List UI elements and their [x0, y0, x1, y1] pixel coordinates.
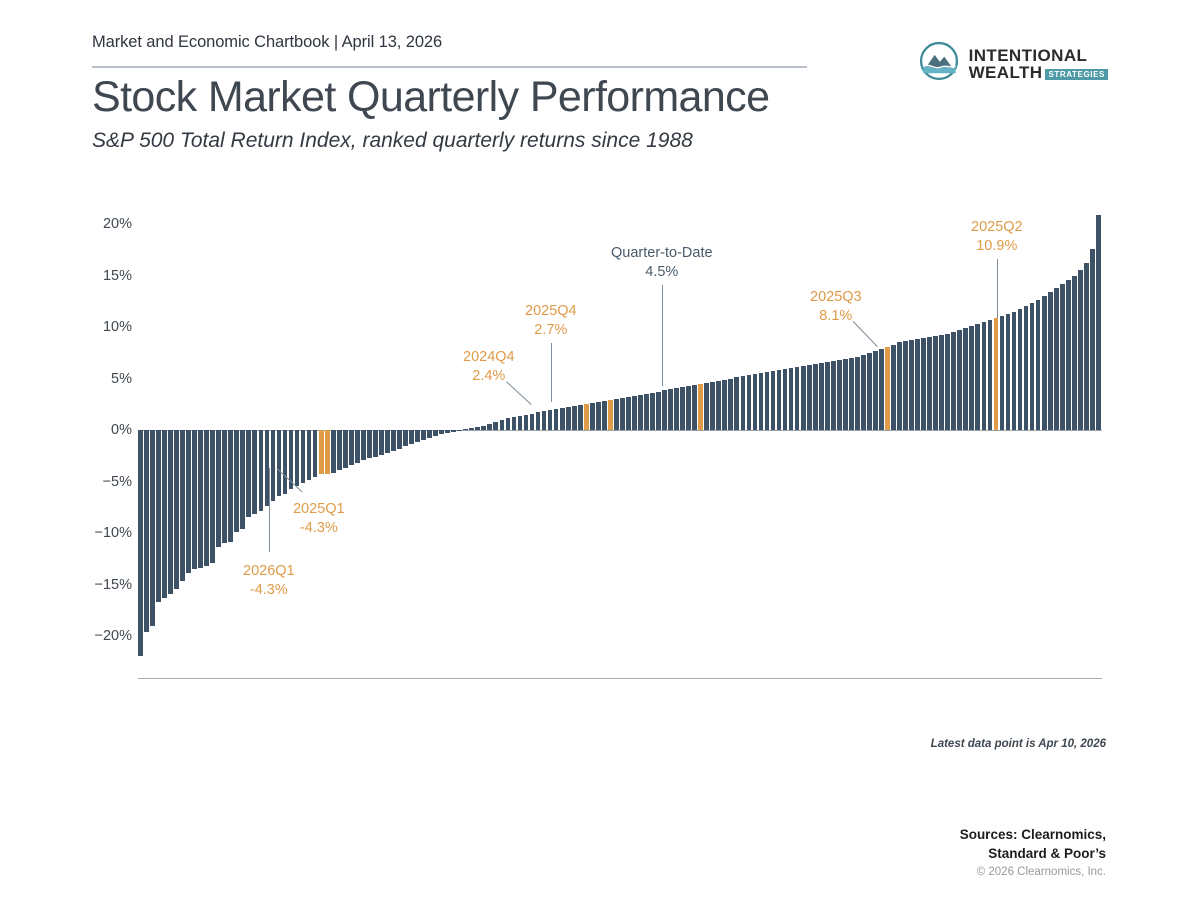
bar — [271, 430, 276, 501]
bar — [831, 361, 836, 430]
bar — [988, 320, 993, 430]
bar — [174, 430, 179, 589]
bar — [1036, 300, 1041, 430]
bar-highlighted — [584, 404, 589, 430]
y-axis-tick: −5% — [103, 474, 132, 490]
bar — [656, 392, 661, 430]
bar — [228, 430, 233, 542]
y-axis-tick: 15% — [103, 268, 132, 284]
bar — [1066, 280, 1071, 430]
bar — [355, 430, 360, 463]
annotation-2026q1-leader-line — [269, 468, 270, 552]
bar — [246, 430, 251, 517]
bar — [891, 345, 896, 430]
bar — [397, 430, 402, 449]
bar — [234, 430, 239, 532]
bar — [180, 430, 185, 581]
bar — [855, 357, 860, 430]
bar — [156, 430, 161, 602]
bar — [1054, 288, 1059, 430]
annotation-2024q4-label: 2024Q4 — [463, 348, 515, 367]
bar — [487, 424, 492, 430]
bar — [463, 429, 468, 430]
bar-highlighted — [698, 384, 703, 430]
bar — [704, 383, 709, 430]
bar — [861, 355, 866, 430]
bar — [1072, 276, 1077, 431]
sources-line-1: Sources: Clearnomics, — [960, 826, 1106, 845]
bar — [1042, 296, 1047, 430]
annotation-quarter-to-date-value: 4.5% — [611, 263, 713, 282]
bar — [819, 363, 824, 430]
bar — [578, 405, 583, 430]
bar — [307, 430, 312, 480]
bar — [975, 324, 980, 430]
bar — [963, 328, 968, 430]
bar — [391, 430, 396, 451]
bar — [469, 428, 474, 430]
bar — [572, 406, 577, 430]
bar — [554, 409, 559, 430]
bar — [825, 362, 830, 430]
annotation-2025q4-value: 2.7% — [525, 321, 577, 340]
annotation-2026q1-value: -4.3% — [243, 581, 295, 600]
bar — [560, 408, 565, 430]
bar — [897, 342, 902, 430]
annotation-quarter-to-date-leader-line — [662, 285, 663, 386]
bar-highlighted — [994, 318, 999, 430]
bar-highlighted — [608, 400, 613, 430]
bar — [349, 430, 354, 465]
bar — [747, 375, 752, 430]
bar — [590, 403, 595, 430]
bar — [1024, 306, 1029, 430]
bar — [481, 426, 486, 430]
bar — [843, 359, 848, 430]
bar — [759, 373, 764, 430]
bar — [168, 430, 173, 594]
bar — [638, 395, 643, 430]
bar — [982, 322, 987, 430]
bar — [680, 387, 685, 430]
bar — [421, 430, 426, 440]
copyright-notice: © 2026 Clearnomics, Inc. — [960, 866, 1106, 878]
bar-highlighted — [885, 347, 890, 430]
bar — [138, 430, 143, 656]
bar — [921, 338, 926, 430]
bar-highlighted — [319, 430, 324, 474]
bar — [1006, 314, 1011, 430]
bar — [903, 341, 908, 430]
bar-highlighted — [325, 430, 330, 474]
bar — [475, 427, 480, 430]
annotation-quarter-to-date-label: Quarter-to-Date — [611, 244, 713, 263]
bar — [716, 381, 721, 430]
annotation-2025q4-label: 2025Q4 — [525, 302, 577, 321]
y-axis-tick: −20% — [95, 628, 133, 644]
bar — [548, 410, 553, 430]
bar — [753, 374, 758, 430]
bar — [493, 422, 498, 430]
bar — [439, 430, 444, 434]
bar — [162, 430, 167, 598]
bar — [373, 430, 378, 457]
y-axis-tick: 0% — [111, 422, 132, 438]
y-axis-tick: −15% — [95, 577, 133, 593]
bar — [1012, 312, 1017, 430]
bar — [710, 382, 715, 430]
bar — [313, 430, 318, 477]
bar — [915, 339, 920, 430]
bar — [1084, 263, 1089, 430]
bar — [222, 430, 227, 543]
bar — [722, 380, 727, 430]
bar — [536, 412, 541, 430]
bar — [542, 411, 547, 430]
bar — [301, 430, 306, 483]
annotation-2025q2-value: 10.9% — [971, 237, 1023, 256]
bar — [433, 430, 438, 436]
y-axis-tick: 20% — [103, 216, 132, 232]
bar — [331, 430, 336, 473]
bar — [361, 430, 366, 460]
bar — [259, 430, 264, 511]
bar — [873, 351, 878, 430]
bar — [500, 420, 505, 430]
bar — [650, 393, 655, 430]
bar — [644, 394, 649, 430]
bar — [614, 399, 619, 430]
bar — [837, 360, 842, 430]
bar — [1078, 270, 1083, 430]
y-axis-tick: 10% — [103, 319, 132, 335]
annotation-2025q2-leader-line — [997, 259, 998, 318]
bar — [385, 430, 390, 453]
sources-block: Sources: Clearnomics, Standard & Poor’s … — [960, 826, 1106, 878]
bar — [813, 364, 818, 430]
bar — [765, 372, 770, 430]
bar — [1018, 309, 1023, 430]
bar — [295, 430, 300, 486]
footer-divider — [138, 678, 1102, 679]
bar — [445, 430, 450, 433]
bar — [216, 430, 221, 547]
bar — [692, 385, 697, 430]
bar — [415, 430, 420, 442]
bar — [204, 430, 209, 566]
y-axis-tick: −10% — [95, 525, 133, 541]
bar — [457, 430, 462, 431]
annotation-2026q1: 2026Q1-4.3% — [243, 562, 295, 600]
bar — [909, 340, 914, 430]
annotation-2025q2-label: 2025Q2 — [971, 218, 1023, 237]
annotation-quarter-to-date: Quarter-to-Date4.5% — [611, 244, 713, 282]
bar — [741, 376, 746, 430]
bar — [620, 398, 625, 430]
bar — [795, 367, 800, 430]
y-axis: 20%15%10%5%0%−5%−10%−15%−20% — [90, 206, 132, 640]
annotation-2026q1-label: 2026Q1 — [243, 562, 295, 581]
bar — [506, 418, 511, 430]
bar — [849, 358, 854, 430]
bar — [198, 430, 203, 568]
annotation-2025q1-label: 2025Q1 — [293, 500, 345, 519]
bar — [951, 332, 956, 430]
bar — [252, 430, 257, 514]
bar — [1000, 316, 1005, 430]
bar — [933, 336, 938, 430]
bar — [626, 397, 631, 430]
bar — [1030, 303, 1035, 430]
annotation-2025q4-leader-line — [551, 343, 552, 402]
bar — [945, 334, 950, 430]
bar — [186, 430, 191, 573]
bar — [939, 335, 944, 430]
annotation-2025q1: 2025Q1-4.3% — [293, 500, 345, 538]
bar — [632, 396, 637, 430]
bar — [451, 430, 456, 432]
bar — [518, 416, 523, 430]
bar — [427, 430, 432, 438]
bar — [524, 415, 529, 430]
bar — [367, 430, 372, 458]
bar — [283, 430, 288, 494]
bar — [530, 414, 535, 430]
annotation-2025q4: 2025Q42.7% — [525, 302, 577, 340]
bar — [240, 430, 245, 529]
bar — [409, 430, 414, 444]
bar — [927, 337, 932, 430]
bar — [777, 370, 782, 430]
bar — [210, 430, 215, 563]
bar — [150, 430, 155, 626]
bar — [879, 349, 884, 430]
bar — [144, 430, 149, 632]
bar — [789, 368, 794, 430]
sources-line-2: Standard & Poor’s — [960, 845, 1106, 864]
bar — [957, 330, 962, 430]
bar — [674, 388, 679, 430]
chart-container: 20%15%10%5%0%−5%−10%−15%−20% 2026Q1-4.3%… — [0, 0, 1200, 900]
bar — [602, 401, 607, 430]
bar — [403, 430, 408, 446]
bar — [969, 326, 974, 430]
latest-data-point-note: Latest data point is Apr 10, 2026 — [931, 738, 1106, 750]
annotation-2025q1-value: -4.3% — [293, 519, 345, 538]
bar — [512, 417, 517, 430]
bar — [379, 430, 384, 455]
bar — [277, 430, 282, 496]
bar — [1048, 292, 1053, 430]
bar — [662, 390, 667, 430]
bar — [867, 353, 872, 430]
bar — [566, 407, 571, 430]
bar — [1060, 284, 1065, 430]
bar — [686, 386, 691, 430]
bar — [783, 369, 788, 430]
bar — [1090, 249, 1095, 430]
bar — [801, 366, 806, 430]
bar — [1096, 215, 1101, 430]
y-axis-tick: 5% — [111, 371, 132, 387]
bar — [734, 377, 739, 430]
annotation-2025q2: 2025Q210.9% — [971, 218, 1023, 256]
bar — [807, 365, 812, 430]
annotation-2025q3-label: 2025Q3 — [810, 288, 862, 307]
bar — [728, 379, 733, 431]
bar — [343, 430, 348, 468]
bar — [596, 402, 601, 430]
bar — [771, 371, 776, 430]
bar — [337, 430, 342, 470]
bar — [192, 430, 197, 569]
bar — [668, 389, 673, 430]
